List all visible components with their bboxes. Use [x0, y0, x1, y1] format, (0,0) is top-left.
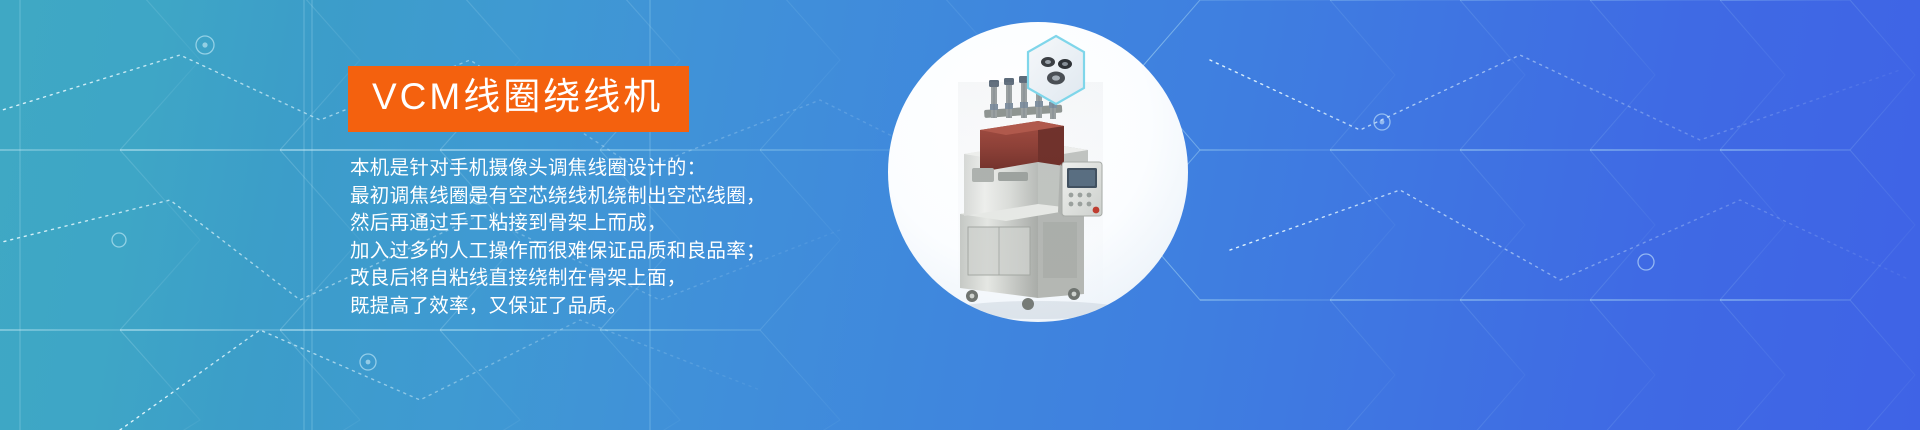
- banner-description: 本机是针对手机摄像头调焦线圈设计的： 最初调焦线圈是有空芯绕线机绕制出空芯线圈，…: [350, 155, 910, 320]
- description-line: 既提高了效率，又保证了品质。: [350, 293, 910, 321]
- hexagon-badge-icon: [1024, 34, 1088, 106]
- description-line: 然后再通过手工粘接到骨架上而成，: [350, 210, 910, 238]
- banner-text-column: VCM线圈绕线机 本机是针对手机摄像头调焦线圈设计的： 最初调焦线圈是有空芯绕线…: [348, 0, 908, 430]
- description-line: 加入过多的人工操作而很难保证品质和良品率；: [350, 238, 910, 266]
- description-line: 改良后将自粘线直接绕制在骨架上面，: [350, 265, 910, 293]
- description-line: 最初调焦线圈是有空芯绕线机绕制出空芯线圈，: [350, 183, 910, 211]
- product-sample-badge: 线圈产品样品: [1024, 34, 1088, 106]
- description-line: 本机是针对手机摄像头调焦线圈设计的：: [350, 155, 910, 183]
- page-title: VCM线圈绕线机: [372, 75, 663, 119]
- banner-title-box: VCM线圈绕线机: [348, 66, 689, 132]
- promo-banner: VCM线圈绕线机 本机是针对手机摄像头调焦线圈设计的： 最初调焦线圈是有空芯绕线…: [0, 0, 1920, 430]
